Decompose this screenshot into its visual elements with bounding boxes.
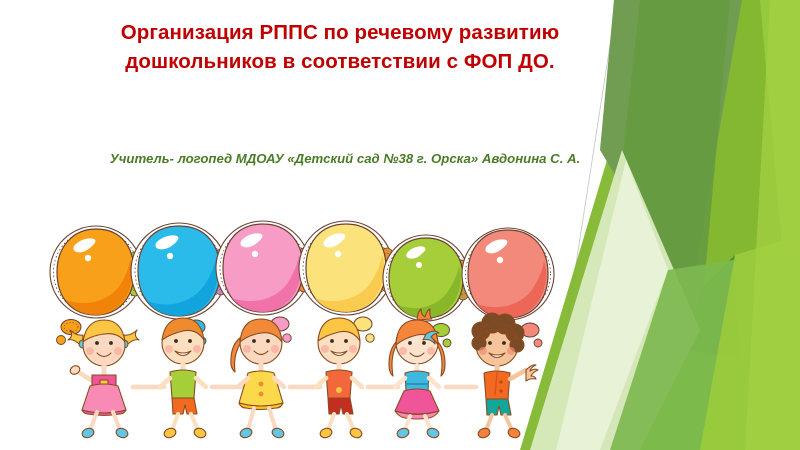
child-girl-yellow-dress — [231, 319, 285, 439]
page-title: Организация РППС по речевому развитию до… — [60, 18, 620, 76]
hairline-guide-2 — [560, 262, 800, 352]
children-group — [68, 309, 538, 439]
polygon-bottom-mid-green — [610, 250, 800, 450]
hairline-guide-3 — [700, 330, 800, 450]
child-boy-green-top — [160, 318, 207, 439]
presentation-slide: Организация РППС по речевому развитию до… — [0, 0, 800, 450]
child-girl-pink-dress — [68, 320, 139, 439]
children-illustration — [30, 212, 590, 450]
child-boy-red-shorts — [316, 318, 363, 439]
subtitle-placeholder: Учитель- логопед МДОАУ «Детский сад №38 … — [60, 150, 630, 167]
polygon-right-column — [745, 0, 800, 450]
polygon-deep-green-sliver — [690, 255, 740, 360]
polygon-mid-green — [618, 0, 730, 330]
title-placeholder: Организация РППС по речевому развитию до… — [60, 18, 620, 76]
polygon-bottom-lime — [700, 235, 800, 450]
author-subtitle: Учитель- логопед МДОАУ «Детский сад №38 … — [60, 150, 630, 167]
